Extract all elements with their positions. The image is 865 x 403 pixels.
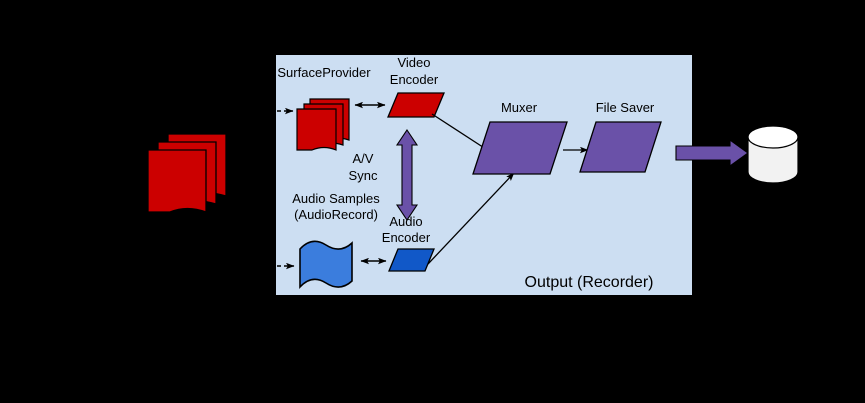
source-frames-stack — [148, 134, 226, 212]
video-encoder-shape — [388, 93, 444, 117]
audio-samples-flag — [300, 241, 352, 287]
surface-provider-stack — [297, 99, 349, 150]
muxer-shape — [473, 122, 567, 174]
storage-cylinder — [748, 126, 798, 183]
diagram-canvas: SurfaceProvider Video Encoder A/V Sync A… — [0, 0, 865, 403]
diagram-graphics — [0, 0, 865, 403]
